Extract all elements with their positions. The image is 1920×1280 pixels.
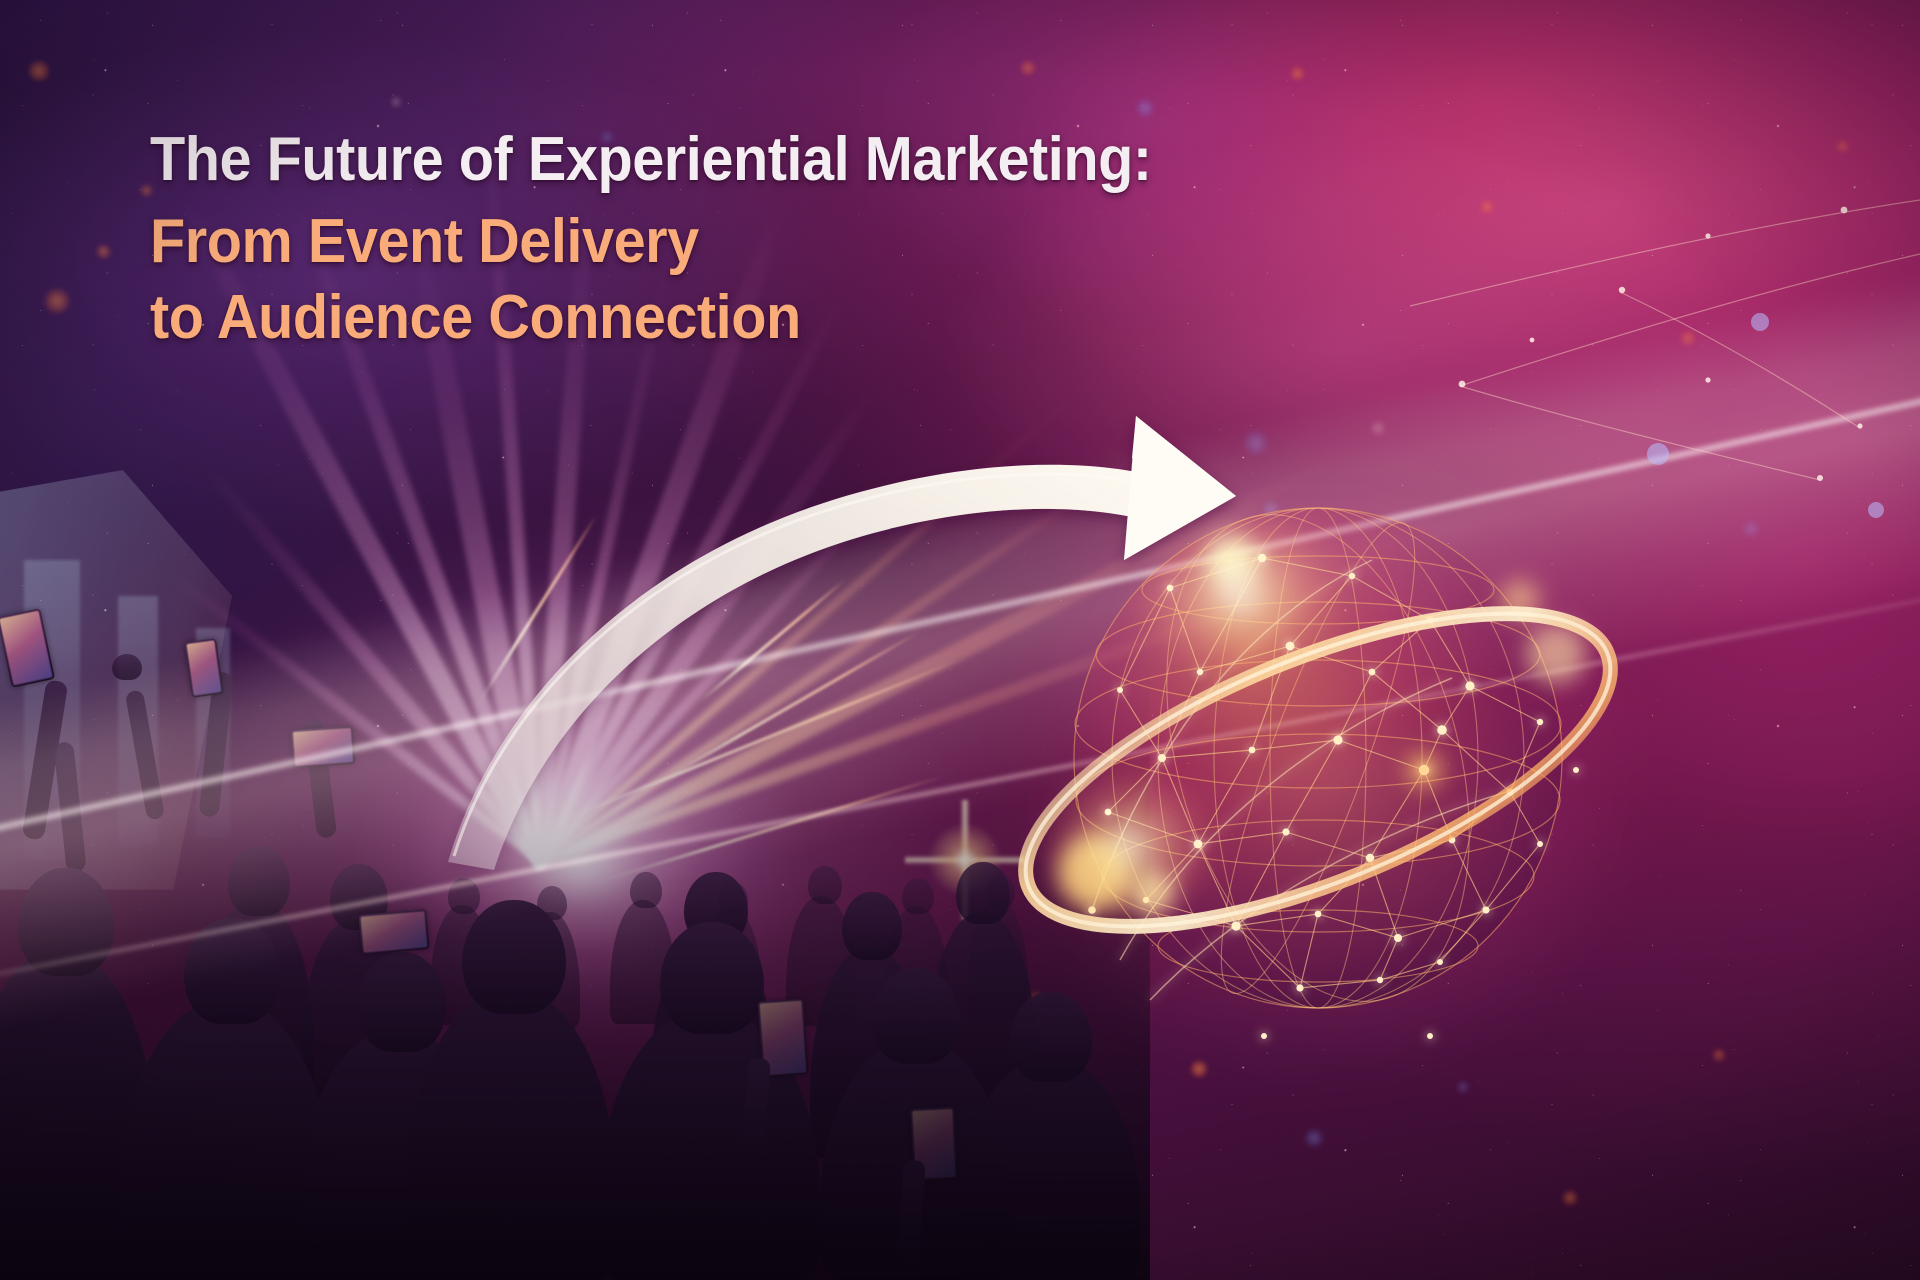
title-line-1: The Future of Experiential Marketing: [150,126,1378,194]
hero-banner: The Future of Experiential Marketing: Fr… [0,0,1920,1280]
title-line-2: From Event Delivery [150,208,1378,276]
title-line-3: to Audience Connection [150,284,1378,352]
page-title: The Future of Experiential Marketing: Fr… [150,126,1470,352]
